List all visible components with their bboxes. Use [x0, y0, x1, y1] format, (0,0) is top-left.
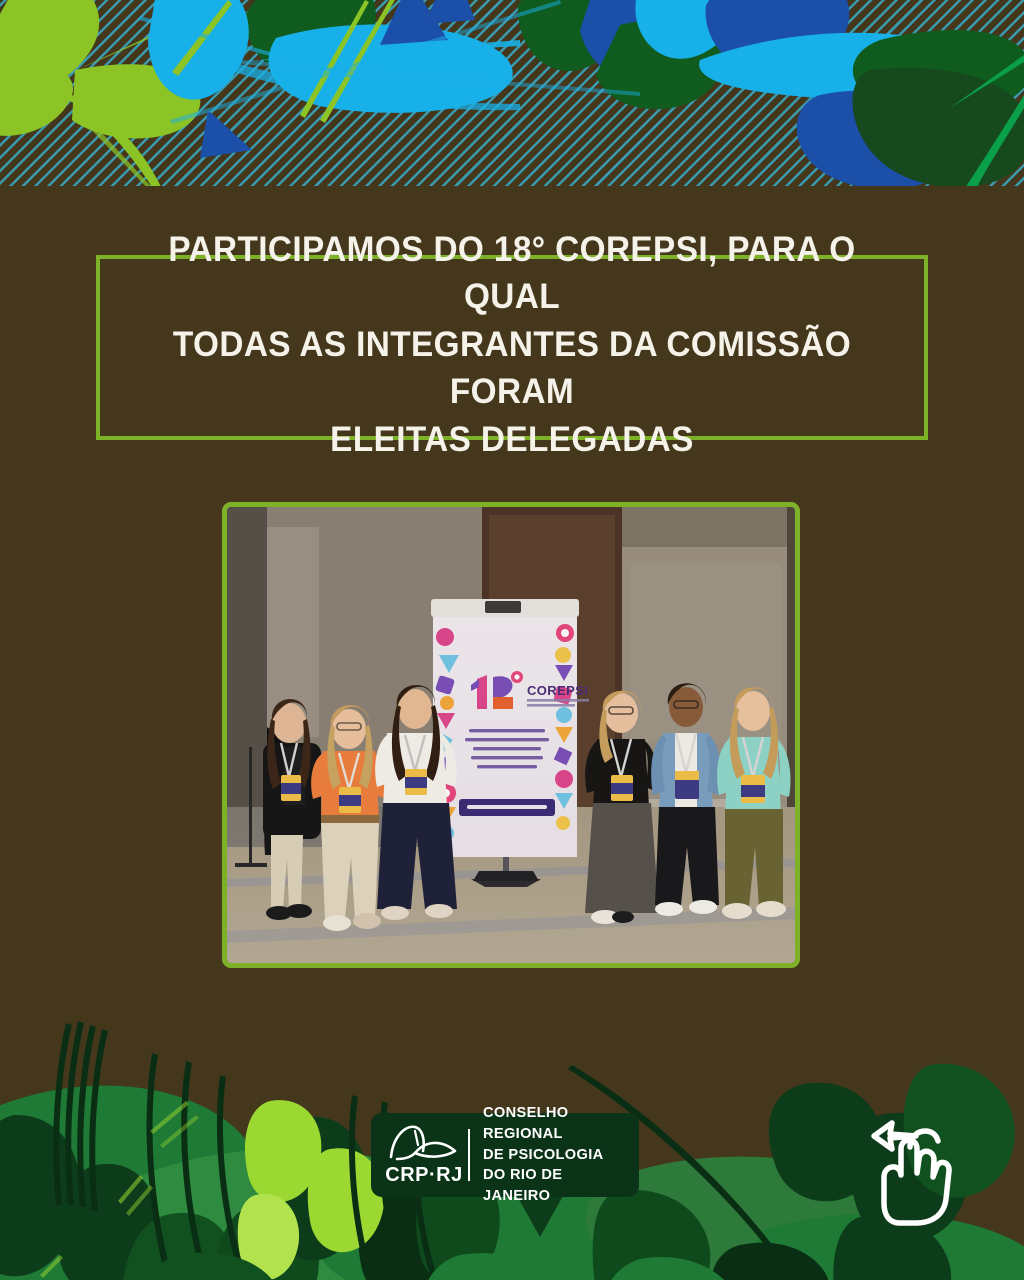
event-photo-frame: COREPSI: [222, 502, 800, 968]
logo-divider: [468, 1129, 470, 1181]
logo-mark-wrap: CRP·RJ: [385, 1123, 463, 1187]
logo-acronym: CRP·RJ: [385, 1164, 462, 1187]
logo-line-2: DE PSICOLOGIA: [483, 1145, 625, 1166]
top-band-shapes: [0, 0, 1024, 190]
event-photo: COREPSI: [227, 507, 795, 963]
page-title: PARTICIPAMOS DO 18° COREPSI, PARA O QUAL…: [153, 226, 871, 464]
logo-wordmark: CONSELHO REGIONAL DE PSICOLOGIA DO RIO D…: [483, 1103, 625, 1207]
logo-line-1: CONSELHO REGIONAL: [483, 1103, 625, 1144]
headline-box: PARTICIPAMOS DO 18° COREPSI, PARA O QUAL…: [96, 255, 928, 440]
poster-canvas: PARTICIPAMOS DO 18° COREPSI, PARA O QUAL…: [0, 0, 1024, 1280]
swipe-left-hand-icon[interactable]: [858, 1103, 970, 1229]
crp-rj-book-mark-icon: [385, 1123, 463, 1163]
logo-line-3: DO RIO DE JANEIRO: [483, 1165, 625, 1206]
crp-rj-logo: CRP·RJ CONSELHO REGIONAL DE PSICOLOGIA D…: [371, 1113, 639, 1197]
top-decorative-band: [0, 0, 1024, 190]
